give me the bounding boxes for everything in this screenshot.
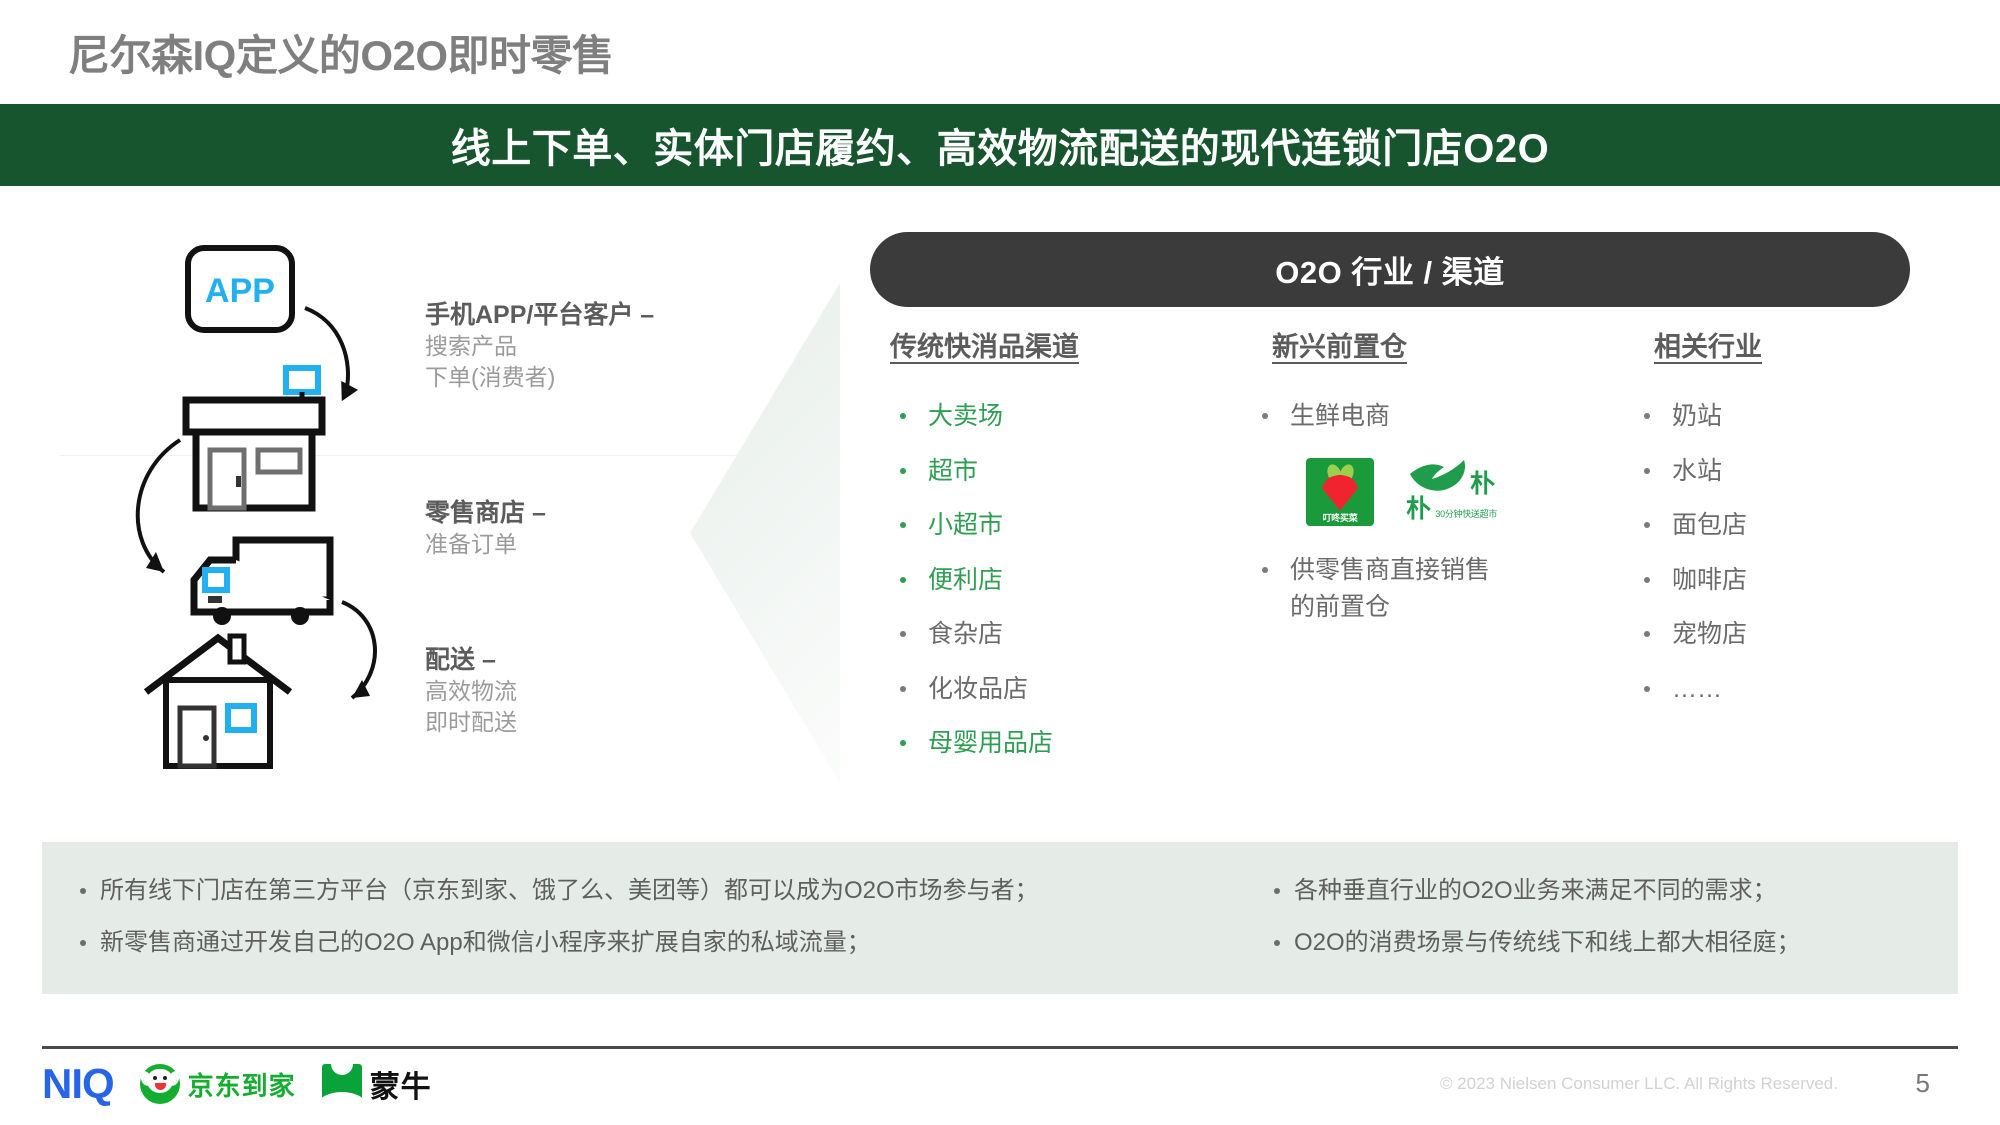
bullet-dot (1262, 567, 1268, 573)
bullet-dot (900, 631, 906, 637)
note-item: O2O的消费场景与传统线下和线上都大相径庭； (1274, 926, 1934, 960)
flow-step-1: 手机APP/平台客户 – 搜索产品 下单(消费者) (425, 295, 654, 393)
page-title: 尼尔森IQ定义的O2O即时零售 (68, 22, 614, 83)
bullet-dot (80, 888, 86, 894)
pupu-logo: 朴朴 30分钟快送超市 (1404, 458, 1499, 522)
list-item-label: 超市 (928, 453, 978, 491)
list-item-label: 宠物店 (1672, 616, 1747, 654)
bullet-dot (900, 522, 906, 528)
flow-step-3-sub2: 即时配送 (425, 707, 517, 738)
headline-banner-text: 线上下单、实体门店履约、高效物流配送的现代连锁门店O2O (451, 116, 1549, 174)
flow-step-2-head: 零售商店 – (425, 493, 546, 529)
list-item-label: 小超市 (928, 507, 1003, 545)
svg-text:APP: APP (205, 272, 275, 310)
note-text: O2O的消费场景与传统线下和线上都大相径庭； (1294, 926, 1801, 960)
flow-step-3-sub1: 高效物流 (425, 676, 517, 707)
flow-step-1-sub1: 搜索产品 (425, 331, 654, 362)
headline-banner: 线上下单、实体门店履约、高效物流配送的现代连锁门店O2O (0, 104, 2000, 186)
jd-daojia-logo: 京东到家 (140, 1064, 296, 1104)
note-item: 所有线下门店在第三方平台（京东到家、饿了么、美团等）都可以成为O2O市场参与者； (80, 874, 1280, 908)
bullet-dot (900, 740, 906, 746)
home-icon (146, 636, 290, 766)
list-item: 化妆品店 (890, 671, 1220, 709)
list-item: 小超市 (890, 507, 1220, 545)
list-item-label: 便利店 (928, 562, 1003, 600)
bullet-dot (1644, 631, 1650, 637)
notes-right-column: 各种垂直行业的O2O业务来满足不同的需求； O2O的消费场景与传统线下和线上都大… (1274, 874, 1934, 977)
list-item: 水站 (1570, 453, 1870, 491)
list-item: 超市 (890, 453, 1220, 491)
channel-column-traditional-heading: 传统快消品渠道 (890, 325, 1220, 364)
list-item-label: 大卖场 (928, 398, 1003, 436)
list-item-label: 母婴用品店 (928, 725, 1053, 763)
flow-step-1-head: 手机APP/平台客户 – (425, 295, 654, 331)
channel-column-related-heading: 相关行业 (1570, 325, 1870, 364)
list-item: 供零售商直接销售 的前置仓 (1220, 552, 1580, 627)
list-item: 大卖场 (890, 398, 1220, 436)
note-item: 各种垂直行业的O2O业务来满足不同的需求； (1274, 874, 1934, 908)
list-item: 面包店 (1570, 507, 1870, 545)
list-item-label: 奶站 (1672, 398, 1722, 436)
flow-step-3: 配送 – 高效物流 即时配送 (425, 640, 517, 738)
list-item: 母婴用品店 (890, 725, 1220, 763)
notes-box: 所有线下门店在第三方平台（京东到家、饿了么、美团等）都可以成为O2O市场参与者；… (42, 842, 1958, 994)
list-item: 宠物店 (1570, 616, 1870, 654)
bullet-dot (1644, 468, 1650, 474)
list-item: 便利店 (890, 562, 1220, 600)
front-warehouse-brand-logos: 叮咚买菜 朴朴 30分钟快送超市 (1306, 458, 1580, 526)
note-item: 新零售商通过开发自己的O2O App和微信小程序来扩展自家的私域流量； (80, 926, 1280, 960)
pupu-logo-tagline: 30分钟快送超市 (1435, 509, 1497, 519)
mengniu-logo-text: 蒙牛 (370, 1062, 432, 1106)
retail-store-icon (186, 368, 322, 508)
list-item: 食杂店 (890, 616, 1220, 654)
notes-left-column: 所有线下门店在第三方平台（京东到家、饿了么、美团等）都可以成为O2O市场参与者；… (80, 874, 1280, 977)
list-item-label: 食杂店 (928, 616, 1003, 654)
list-item: 生鲜电商 (1220, 398, 1580, 436)
bullet-dot (1274, 888, 1280, 894)
dingdong-maicai-logo: 叮咚买菜 (1306, 458, 1374, 526)
list-item-label: 化妆品店 (928, 671, 1028, 709)
mengniu-mark-head (331, 1064, 353, 1075)
bullet-dot (1274, 940, 1280, 946)
bullet-dot (1262, 413, 1268, 419)
dingdong-maicai-logo-text: 叮咚买菜 (1306, 511, 1374, 524)
note-text: 新零售商通过开发自己的O2O App和微信小程序来扩展自家的私域流量； (100, 926, 871, 960)
bullet-dot (900, 577, 906, 583)
jd-daojia-logo-text: 京东到家 (188, 1066, 296, 1103)
copyright-text: © 2023 Nielsen Consumer LLC. All Rights … (1440, 1074, 1838, 1094)
flow-step-3-head: 配送 – (425, 640, 517, 676)
list-item: …… (1570, 671, 1870, 709)
channel-column-traditional: 传统快消品渠道 大卖场 超市 小超市 便利店 食杂店 化妆品店 母婴用品店 (890, 325, 1220, 780)
o2o-channel-panel-title: O2O 行业 / 渠道 (1275, 247, 1504, 292)
note-text: 各种垂直行业的O2O业务来满足不同的需求； (1294, 874, 1777, 908)
page-number: 5 (1916, 1068, 1930, 1099)
mengniu-mark-body (322, 1092, 362, 1104)
flow-step-2-sub1: 准备订单 (425, 529, 546, 560)
niq-logo: NIQ (42, 1063, 114, 1105)
channel-column-related: 相关行业 奶站 水站 面包店 咖啡店 宠物店 …… (1570, 325, 1870, 725)
radish-icon (1322, 475, 1358, 511)
note-text: 所有线下门店在第三方平台（京东到家、饿了么、美团等）都可以成为O2O市场参与者； (100, 874, 1039, 908)
app-phone-icon: APP (188, 248, 292, 330)
bullet-dot (1644, 577, 1650, 583)
dog-eye-right-icon (163, 1076, 167, 1080)
chevron-arrow-decoration (690, 283, 840, 783)
bullet-dot (1644, 686, 1650, 692)
bullet-dot (900, 686, 906, 692)
bullet-dot (80, 940, 86, 946)
list-item-label: 咖啡店 (1672, 562, 1747, 600)
list-item: 奶站 (1570, 398, 1870, 436)
list-item-label: 水站 (1672, 453, 1722, 491)
mengniu-logo: 蒙牛 (322, 1062, 432, 1106)
delivery-truck-icon (194, 540, 330, 625)
slide-root: 尼尔森IQ定义的O2O即时零售 线上下单、实体门店履约、高效物流配送的现代连锁门… (0, 0, 2000, 1125)
channel-column-frontwarehouse-heading: 新兴前置仓 (1220, 325, 1580, 364)
list-item-label: 生鲜电商 (1290, 398, 1390, 436)
footer: NIQ 京东到家 蒙牛 © 2023 Niel (42, 1062, 1958, 1122)
bullet-dot (900, 468, 906, 474)
jd-dog-mascot-icon (140, 1064, 180, 1104)
bullet-dot (900, 413, 906, 419)
flow-step-2: 零售商店 – 准备订单 (425, 493, 546, 560)
flow-step-1-sub2: 下单(消费者) (425, 362, 654, 393)
footer-divider (42, 1046, 1958, 1049)
list-item-label: 面包店 (1672, 507, 1747, 545)
bullet-dot (1644, 413, 1650, 419)
footer-logo-group: NIQ 京东到家 蒙牛 (42, 1062, 432, 1106)
mengniu-mark-icon (322, 1064, 362, 1104)
o2o-channel-panel-header: O2O 行业 / 渠道 (870, 232, 1910, 307)
dog-eye-left-icon (153, 1076, 157, 1080)
channel-column-frontwarehouse: 新兴前置仓 生鲜电商 叮咚买菜 朴朴 30分钟快送超市 供零售商直接销售 的 (1220, 325, 1580, 644)
list-item: 咖啡店 (1570, 562, 1870, 600)
bullet-dot (1644, 522, 1650, 528)
list-item-label: …… (1672, 671, 1722, 709)
list-item-label: 供零售商直接销售 的前置仓 (1290, 552, 1490, 627)
